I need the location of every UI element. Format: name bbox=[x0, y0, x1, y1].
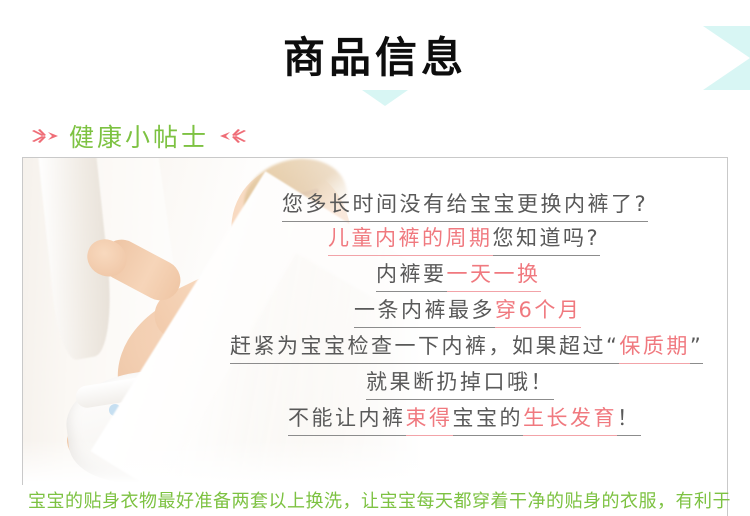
dart-right-icon bbox=[30, 127, 60, 145]
tip-line-5-text-end: ” bbox=[690, 334, 703, 358]
product-info-page: 商品信息 健康小帖士 bbox=[0, 0, 750, 516]
dart-left-icon bbox=[218, 127, 248, 145]
tip-line-1: 您多长时间没有给宝宝更换内裤了? bbox=[282, 192, 648, 222]
tip-line-4-text: 一条内裤最多 bbox=[354, 298, 495, 322]
tip-line-2-highlight: 儿童内裤的周期 bbox=[328, 226, 493, 256]
photo-fade-bottom bbox=[23, 440, 493, 485]
tip-line-6: 就果断扔掉口哦！ bbox=[366, 370, 554, 400]
tip-line-6-text: 就果断扔掉口哦！ bbox=[366, 370, 554, 394]
tip-line-7: 不能让内裤束得宝宝的生长发育！ bbox=[288, 406, 641, 436]
tip-line-4: 一条内裤最多穿6个月 bbox=[354, 298, 581, 328]
tip-line-5-text: 赶紧为宝宝检查一下内裤，如果超过“ bbox=[230, 334, 619, 358]
tip-line-2-text: 您知道吗? bbox=[493, 226, 601, 250]
tip-line-3-text: 内裤要 bbox=[376, 262, 447, 286]
tip-line-2: 儿童内裤的周期您知道吗? bbox=[328, 226, 600, 256]
tip-line-1-text: 您多长时间没有给宝宝更换内裤了? bbox=[282, 192, 648, 216]
tip-line-4-highlight: 穿6个月 bbox=[495, 298, 581, 328]
health-tip-label: 健康小帖士 bbox=[69, 118, 209, 154]
tip-line-7-text-a: 不能让内裤 bbox=[288, 406, 406, 430]
tip-line-5: 赶紧为宝宝检查一下内裤，如果超过“保质期” bbox=[230, 334, 703, 364]
tip-line-5-highlight: 保质期 bbox=[619, 334, 690, 364]
health-tip-heading: 健康小帖士 bbox=[30, 118, 248, 154]
tip-line-7-highlight-b: 生长发育 bbox=[523, 406, 617, 436]
tip-line-7-text-c: ！ bbox=[617, 406, 641, 430]
tip-line-7-text-b: 宝宝的 bbox=[453, 406, 524, 430]
tip-line-3-highlight: 一天一换 bbox=[447, 262, 541, 292]
tip-line-3: 内裤要一天一换 bbox=[376, 262, 541, 292]
tip-line-7-highlight-a: 束得 bbox=[406, 406, 453, 436]
tip-text-block: 您多长时间没有给宝宝更换内裤了? 儿童内裤的周期您知道吗? 内裤要一天一换 一条… bbox=[0, 0, 706, 328]
footer-caption: 宝宝的贴身衣物最好准备两套以上换洗，让宝宝每天都穿着干净的贴身的衣服，有利于 bbox=[28, 487, 731, 513]
